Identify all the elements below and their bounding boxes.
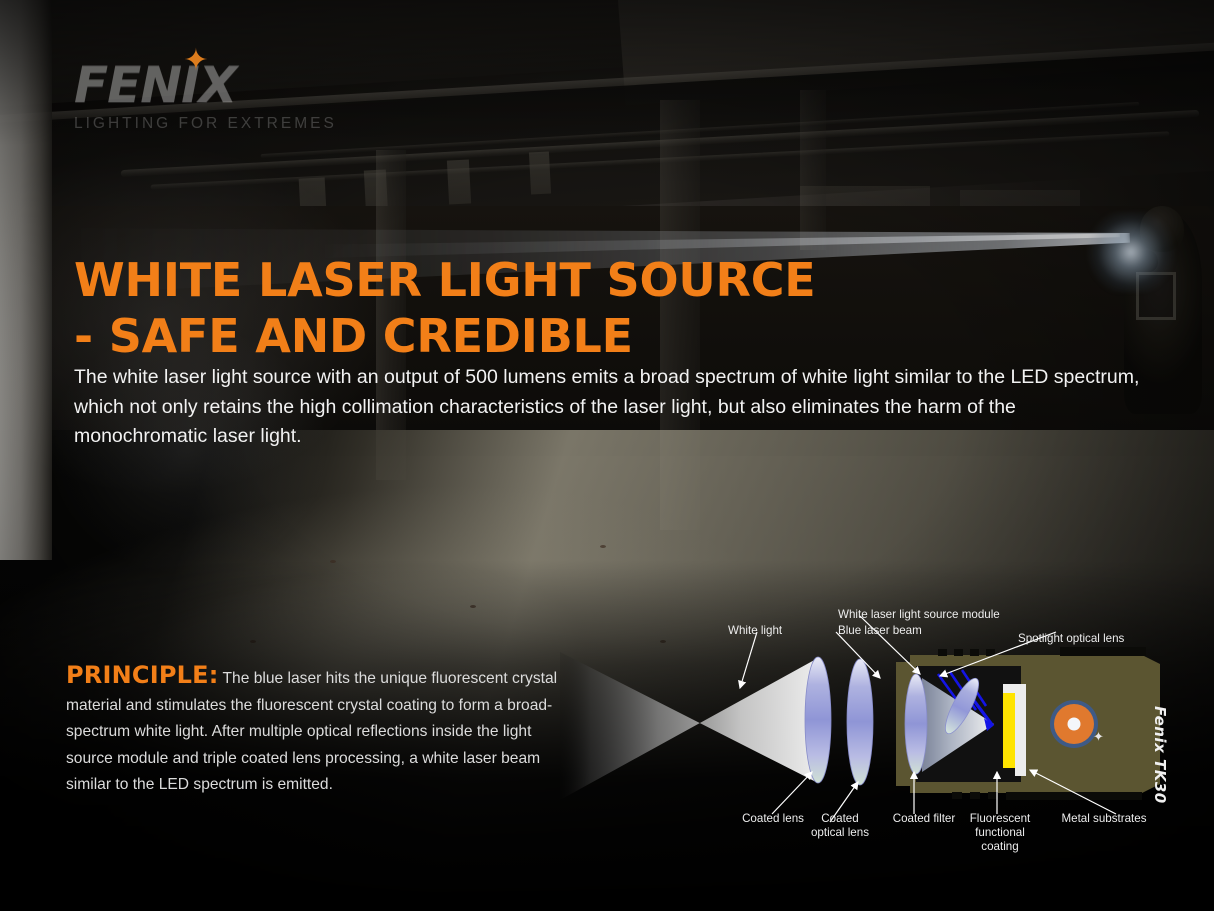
product-name-marking: Fenix TK30	[1065, 706, 1175, 736]
floor-debris	[250, 640, 256, 643]
label-fluorescent-functional-coating: Fluorescent functional coating	[956, 812, 1044, 854]
promo-page: FENIX ✦ LIGHTING FOR EXTREMES WHITE LASE…	[0, 0, 1214, 911]
optical-path-diagram: Fenix TK30 ✦ White light Blue laser beam…	[560, 600, 1200, 870]
fenix-logo: FENIX ✦ LIGHTING FOR EXTREMES	[74, 60, 344, 132]
label-spotlight-optical-lens: Spotlight optical lens	[1018, 632, 1124, 646]
fluorescent-functional-coating	[1003, 693, 1015, 768]
brand-tagline: LIGHTING FOR EXTREMES	[74, 115, 344, 133]
spotlight-optical-lens	[905, 674, 927, 774]
principle-block: PRINCIPLE:The blue laser hits the unique…	[66, 662, 576, 799]
coated-lens	[805, 657, 831, 783]
principle-kicker: PRINCIPLE:	[66, 661, 219, 689]
support-column	[800, 90, 826, 250]
flashlight-hotspot	[1086, 212, 1176, 292]
page-title-line-1: WHITE LASER LIGHT SOURCE	[74, 252, 1074, 308]
white-light-beam	[560, 652, 818, 800]
floor-debris	[470, 605, 476, 608]
label-blue-laser-beam: Blue laser beam	[838, 624, 922, 638]
label-white-light: White light	[728, 624, 782, 638]
label-coated-optical-lens: Coated optical lens	[800, 812, 880, 840]
page-title-line-2: - SAFE AND CREDIBLE	[74, 308, 1074, 364]
metal-substrates	[1015, 684, 1026, 776]
coated-optical-lens	[847, 659, 873, 785]
star-icon: ✦	[182, 47, 210, 75]
barrel-star-icon: ✦	[1093, 729, 1104, 745]
page-title: WHITE LASER LIGHT SOURCE - SAFE AND CRED…	[74, 252, 1074, 364]
metal-substrates-edge	[1003, 684, 1015, 693]
label-white-laser-light-source-module: White laser light source module	[838, 608, 1000, 622]
label-metal-substrates: Metal substrates	[1046, 812, 1162, 826]
intro-paragraph: The white laser light source with an out…	[74, 363, 1144, 452]
